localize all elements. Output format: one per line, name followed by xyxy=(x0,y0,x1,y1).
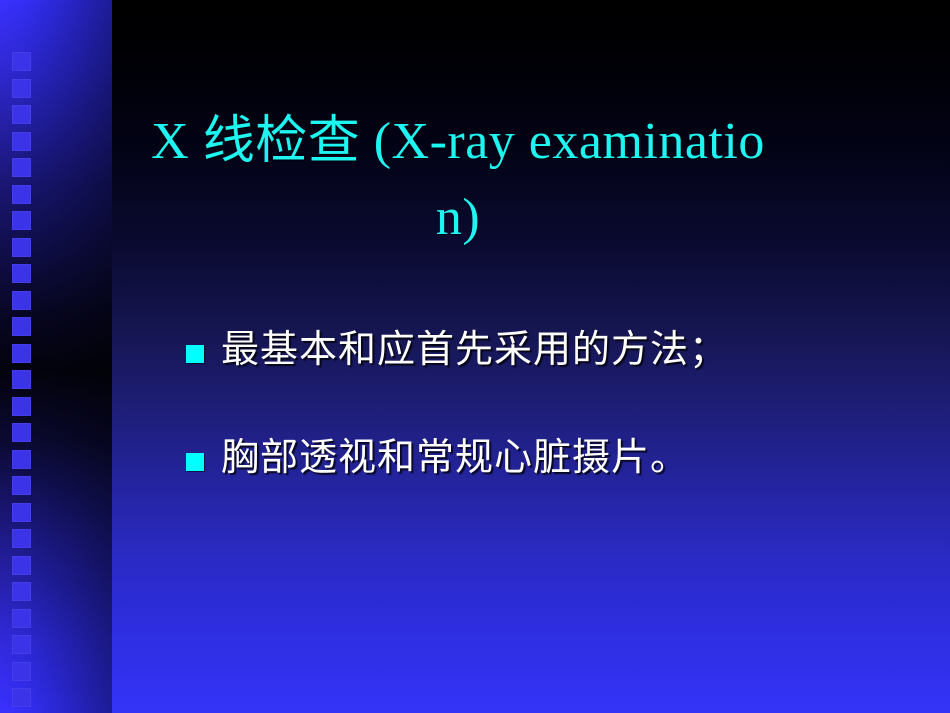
slide-title: X 线检查 (X-ray examinatio n) xyxy=(118,104,798,256)
sidebar-square-decoration xyxy=(12,503,31,522)
sidebar-square-decoration xyxy=(12,582,31,601)
sidebar-square-decoration xyxy=(12,423,31,442)
sidebar-square-decoration xyxy=(12,688,31,707)
sidebar-square-decoration xyxy=(12,635,31,654)
sidebar-square-decoration xyxy=(12,291,31,310)
slide-left-accent-band xyxy=(0,0,112,713)
presentation-slide: X 线检查 (X-ray examinatio n) 最基本和应首先采用的方法；… xyxy=(0,0,950,713)
sidebar-square-strip xyxy=(0,0,112,713)
square-bullet-icon xyxy=(186,345,204,363)
sidebar-square-decoration xyxy=(12,662,31,681)
sidebar-square-decoration xyxy=(12,132,31,151)
sidebar-square-decoration xyxy=(12,450,31,469)
sidebar-square-decoration xyxy=(12,476,31,495)
sidebar-square-decoration xyxy=(12,397,31,416)
list-item-label: 最基本和应首先采用的方法； xyxy=(221,325,906,375)
sidebar-square-decoration xyxy=(12,105,31,124)
sidebar-square-decoration xyxy=(12,529,31,548)
sidebar-square-decoration xyxy=(12,185,31,204)
sidebar-square-decoration xyxy=(12,317,31,336)
square-bullet-icon xyxy=(186,453,204,471)
list-item: 胸部透视和常规心脏摄片。 xyxy=(186,433,906,483)
sidebar-square-decoration xyxy=(12,609,31,628)
sidebar-square-decoration xyxy=(12,370,31,389)
sidebar-square-decoration xyxy=(12,238,31,257)
sidebar-square-decoration xyxy=(12,556,31,575)
list-item: 最基本和应首先采用的方法； xyxy=(186,325,906,375)
sidebar-square-decoration xyxy=(12,211,31,230)
sidebar-square-decoration xyxy=(12,52,31,71)
sidebar-square-decoration xyxy=(12,344,31,363)
sidebar-square-decoration xyxy=(12,264,31,283)
sidebar-square-decoration xyxy=(12,79,31,98)
sidebar-square-decoration xyxy=(12,158,31,177)
list-item-label: 胸部透视和常规心脏摄片。 xyxy=(221,433,906,483)
slide-body: 最基本和应首先采用的方法； 胸部透视和常规心脏摄片。 xyxy=(186,325,906,541)
